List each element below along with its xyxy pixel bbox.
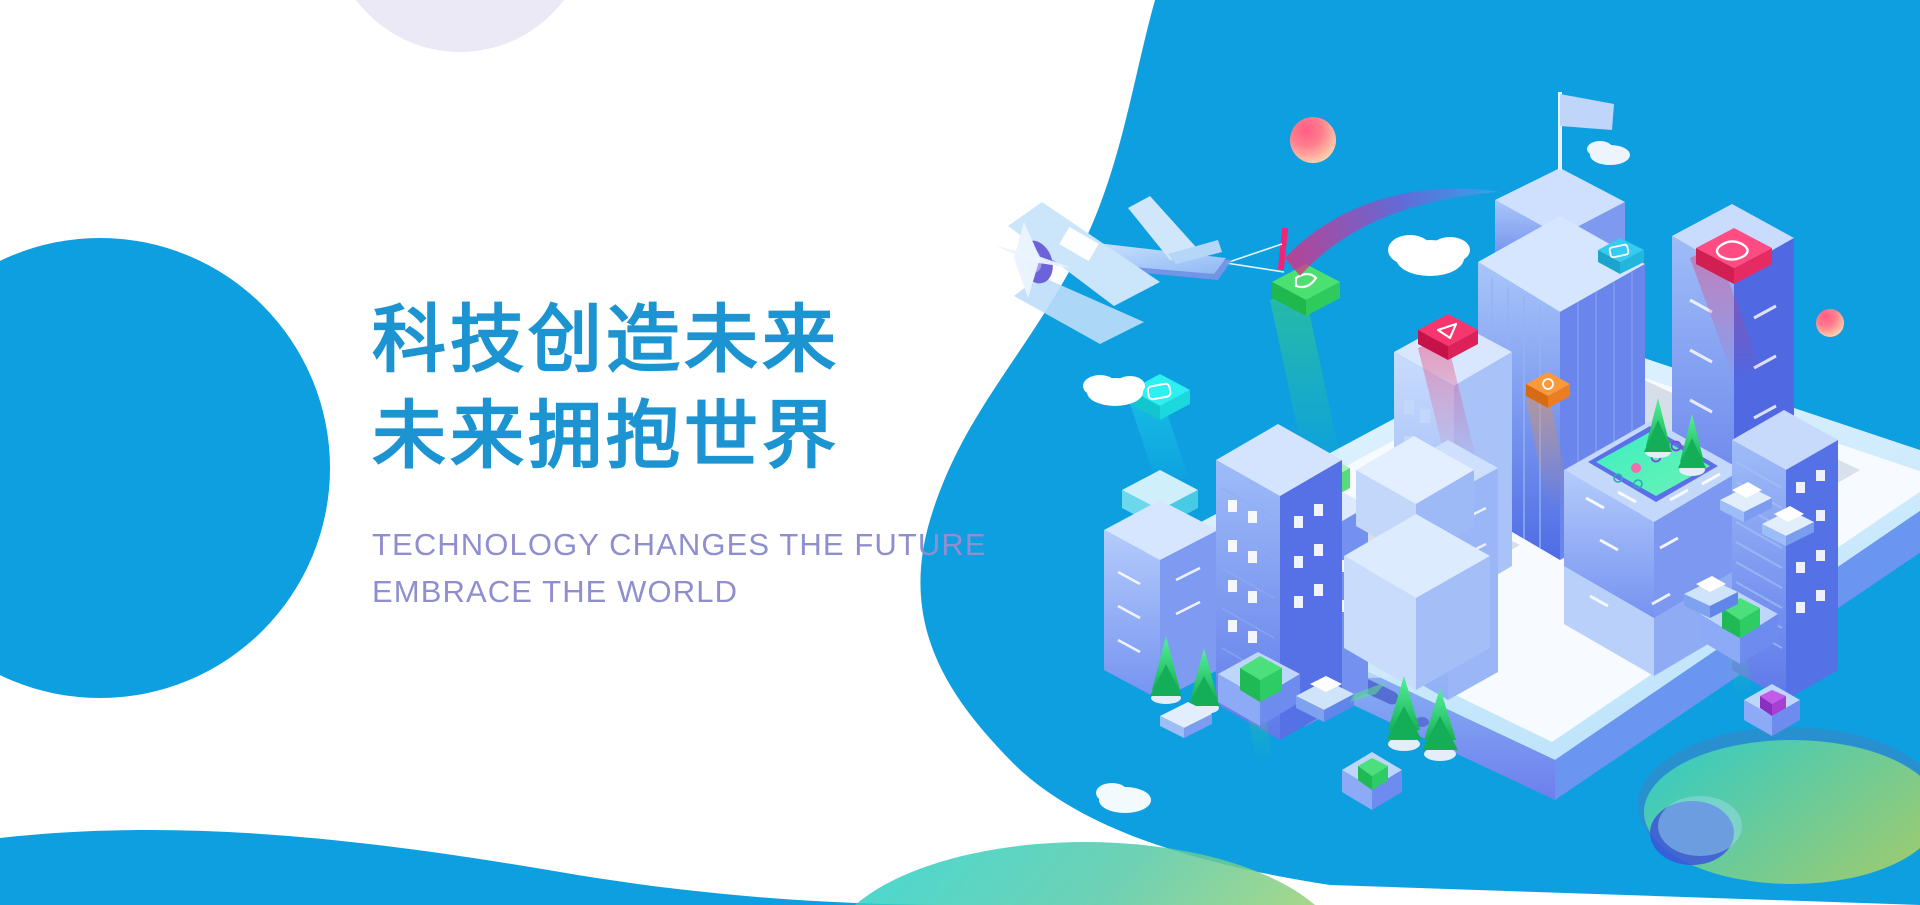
hero-text-block: 科技创造未来 未来拥抱世界 TECHNOLOGY CHANGES THE FUT… xyxy=(372,292,1072,615)
building-white-stepped xyxy=(1344,436,1490,690)
cloud-icon-upper-right xyxy=(1388,235,1470,276)
data-cube-green-left xyxy=(1218,652,1300,762)
hero-banner: 科技创造未来 未来拥抱世界 TECHNOLOGY CHANGES THE FUT… xyxy=(0,0,1920,905)
flag-banner xyxy=(1560,94,1614,130)
cloud-icon-bottom-left xyxy=(1096,783,1151,813)
data-cube-front-bottom xyxy=(1342,752,1402,810)
ribbon-trail xyxy=(1278,189,1500,276)
headline-line-2: 未来拥抱世界 xyxy=(372,388,1072,484)
building-cyan-pin xyxy=(1104,374,1218,700)
cloud-icon-small-top xyxy=(1587,141,1630,165)
headline-line-1: 科技创造未来 xyxy=(372,292,1072,388)
subtitle-line-1: TECHNOLOGY CHANGES THE FUTURE xyxy=(372,522,1072,569)
cloud-icon-left xyxy=(1083,375,1145,406)
subtitle-block: TECHNOLOGY CHANGES THE FUTURE EMBRACE TH… xyxy=(372,522,1072,615)
subtitle-line-2: EMBRACE THE WORLD xyxy=(372,569,1072,616)
